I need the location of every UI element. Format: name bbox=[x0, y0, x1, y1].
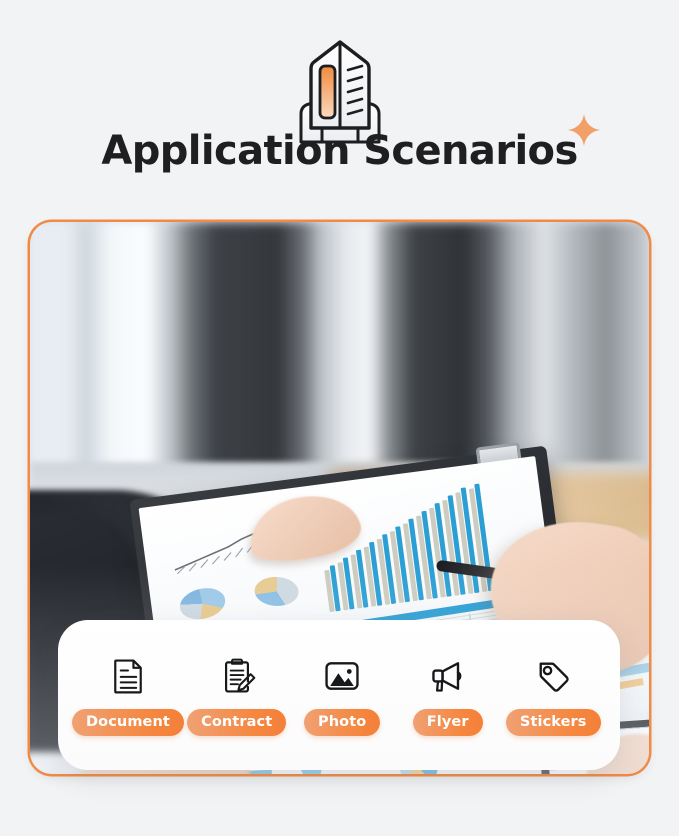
category-label-contract[interactable]: Contract bbox=[187, 709, 286, 737]
category-item-photo[interactable]: Photo bbox=[289, 654, 395, 737]
page-title: Application Scenarios bbox=[101, 131, 577, 171]
tag-icon bbox=[531, 654, 575, 698]
category-card: Document Contract bbox=[58, 620, 620, 770]
clipboard-pencil-icon bbox=[215, 654, 259, 698]
document-icon bbox=[106, 654, 150, 698]
category-item-contract[interactable]: Contract bbox=[184, 654, 290, 737]
category-item-stickers[interactable]: Stickers bbox=[500, 654, 606, 737]
category-label-document[interactable]: Document bbox=[72, 709, 184, 737]
category-item-document[interactable]: Document bbox=[72, 654, 184, 737]
category-label-stickers[interactable]: Stickers bbox=[506, 709, 601, 737]
photo-pie-chart-2 bbox=[254, 576, 299, 607]
photo-background-office bbox=[30, 222, 649, 490]
category-label-photo[interactable]: Photo bbox=[304, 709, 380, 737]
page-title-row: Application Scenarios bbox=[0, 131, 679, 171]
page-header: Application Scenarios bbox=[0, 0, 679, 212]
sparkle-icon bbox=[567, 113, 601, 147]
photo-pie-chart-1 bbox=[177, 584, 229, 624]
megaphone-icon bbox=[426, 654, 470, 698]
category-item-flyer[interactable]: Flyer bbox=[395, 654, 501, 737]
image-icon bbox=[320, 654, 364, 698]
category-label-flyer[interactable]: Flyer bbox=[413, 709, 483, 737]
